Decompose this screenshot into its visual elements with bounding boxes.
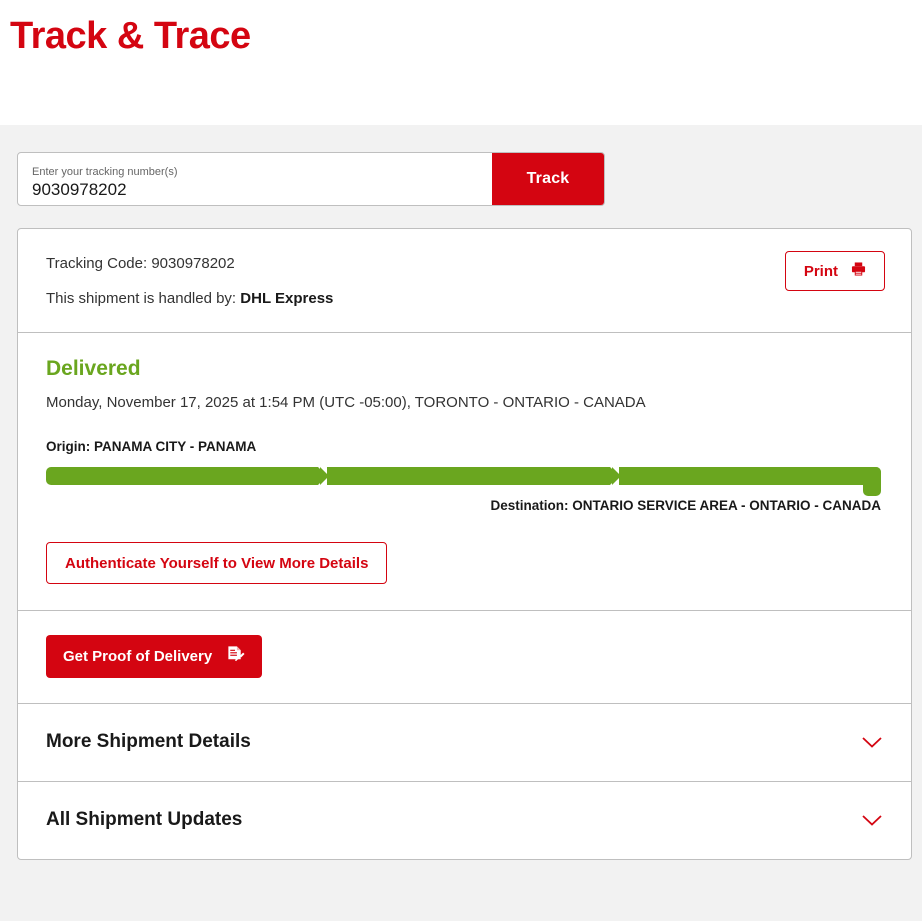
- track-button[interactable]: Track: [492, 153, 604, 205]
- status-datetime-location: Monday, November 17, 2025 at 1:54 PM (UT…: [46, 393, 883, 413]
- progress-segment-1: [46, 467, 318, 485]
- shipment-summary-header: Tracking Code: 9030978202 This shipment …: [18, 229, 911, 332]
- accordion-all-shipment-updates-label: All Shipment Updates: [46, 809, 242, 831]
- accordion-all-shipment-updates[interactable]: All Shipment Updates: [18, 782, 911, 859]
- printer-icon: [851, 262, 866, 280]
- tracking-input-label: Enter your tracking number(s): [32, 165, 492, 179]
- tracking-search-area: Enter your tracking number(s) Track: [0, 125, 922, 206]
- pod-button-label: Get Proof of Delivery: [63, 648, 212, 665]
- tracking-result-card: Tracking Code: 9030978202 This shipment …: [17, 228, 912, 860]
- get-proof-of-delivery-button[interactable]: Get Proof of Delivery: [46, 635, 262, 678]
- tracking-number-input[interactable]: [32, 179, 492, 200]
- carrier-name: DHL Express: [240, 290, 333, 307]
- document-signed-icon: [226, 645, 245, 668]
- progress-bar-track: [46, 467, 881, 485]
- authenticate-button[interactable]: Authenticate Yourself to View More Detai…: [46, 542, 387, 584]
- progress-bar: [46, 463, 881, 489]
- tracking-input-wrapper[interactable]: Enter your tracking number(s): [18, 153, 492, 205]
- chevron-down-icon[interactable]: [861, 736, 883, 749]
- progress-segment-2: [336, 467, 610, 485]
- destination-label: Destination: ONTARIO SERVICE AREA - ONTA…: [46, 498, 881, 514]
- progress-segment-3: [628, 467, 881, 485]
- origin-label: Origin: PANAMA CITY - PANAMA: [46, 439, 883, 455]
- page-header: Track & Trace: [0, 0, 922, 125]
- progress-chevron-2-icon: [610, 467, 628, 485]
- shipment-progress-block: Origin: PANAMA CITY - PANAMA Destination…: [46, 439, 883, 514]
- progress-endcap: [863, 467, 881, 496]
- page-title: Track & Trace: [10, 14, 251, 60]
- accordion-more-shipment-details-label: More Shipment Details: [46, 731, 251, 753]
- print-button[interactable]: Print: [785, 251, 885, 291]
- print-button-label: Print: [804, 263, 838, 280]
- tracking-search-box: Enter your tracking number(s) Track: [17, 152, 605, 206]
- shipment-summary-text: Tracking Code: 9030978202 This shipment …: [46, 251, 333, 310]
- proof-of-delivery-section: Get Proof of Delivery: [18, 611, 911, 703]
- progress-chevron-1-icon: [318, 467, 336, 485]
- shipment-status-section: Delivered Monday, November 17, 2025 at 1…: [18, 333, 911, 610]
- handled-by-prefix: This shipment is handled by:: [46, 290, 236, 307]
- page-body: Enter your tracking number(s) Track Trac…: [0, 125, 922, 921]
- tracking-code-label: Tracking Code: 9030978202: [46, 253, 333, 275]
- status-title: Delivered: [46, 357, 883, 381]
- accordion-more-shipment-details[interactable]: More Shipment Details: [18, 704, 911, 781]
- chevron-down-icon[interactable]: [861, 814, 883, 827]
- handled-by-label: This shipment is handled by: DHL Express: [46, 288, 333, 310]
